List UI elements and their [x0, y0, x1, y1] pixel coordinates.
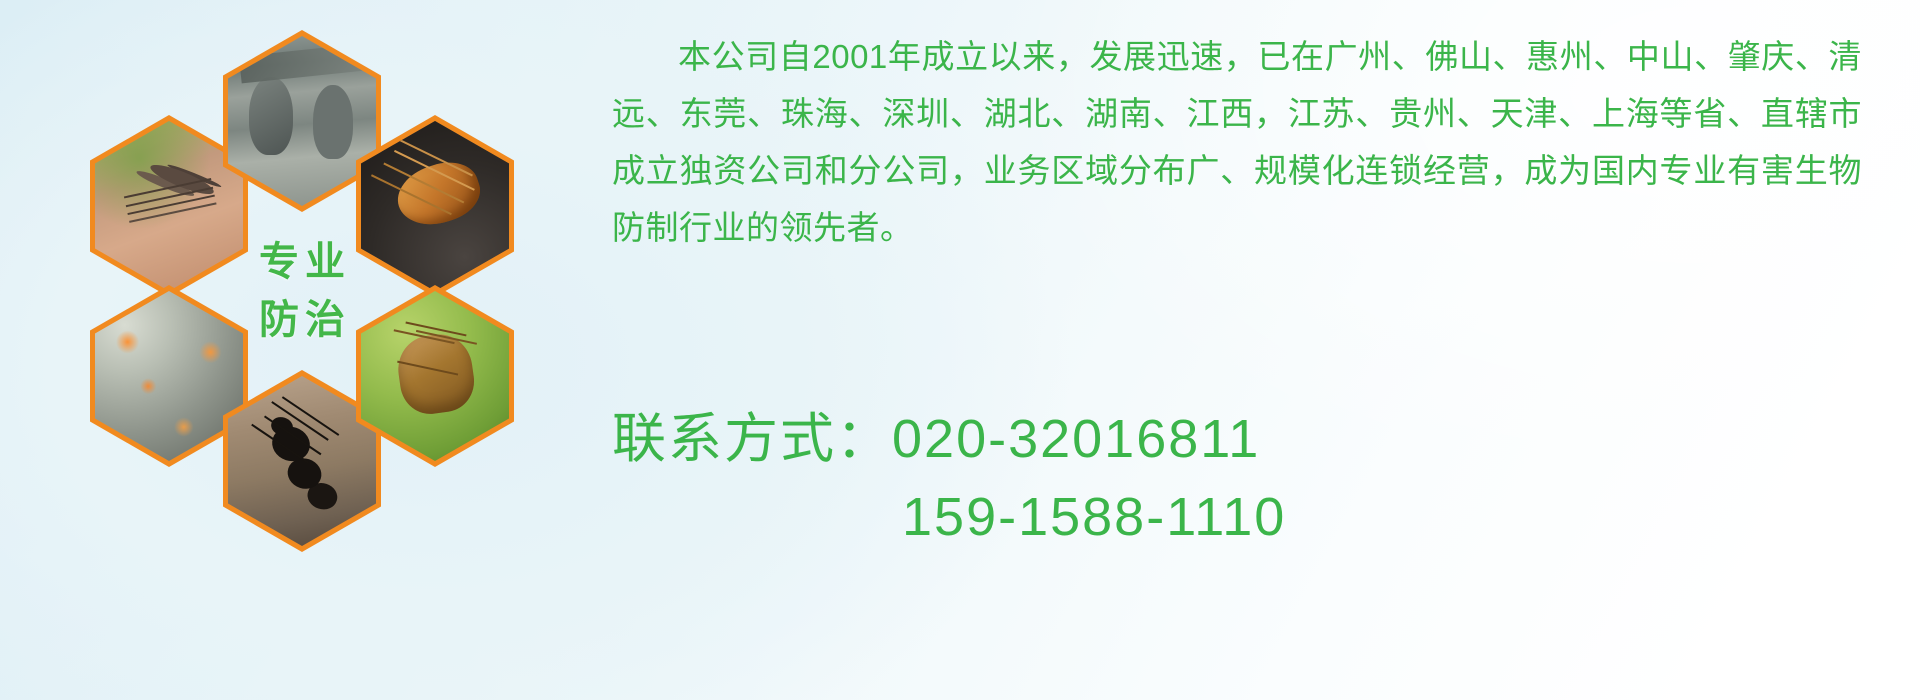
fly-icon — [95, 291, 243, 461]
mosquito-icon — [95, 121, 243, 291]
rat-icon — [228, 36, 376, 206]
contact-primary-line[interactable]: 联系方式：020-32016811 — [612, 400, 1862, 478]
hex-photo-cluster: 专业 防治 — [90, 10, 590, 570]
badge-line-1: 专业 — [253, 233, 351, 291]
contact-block: 联系方式：020-32016811 159-1588-1110 — [612, 400, 1862, 556]
cockroach-icon — [361, 121, 509, 291]
intro-paragraph: 本公司自2001年成立以来，发展迅速，已在广州、佛山、惠州、中山、肇庆、清远、东… — [612, 28, 1862, 256]
contact-secondary-line[interactable]: 159-1588-1110 — [612, 478, 1862, 556]
promo-banner: 专业 防治 本公司自2001年成立以来，发展迅速，已在广州、佛山、惠州、中山、肇… — [0, 0, 1920, 700]
badge-line-2: 防治 — [253, 291, 351, 349]
stinkbug-icon — [361, 291, 509, 461]
badge-professional-control: 专业 防治 — [223, 200, 381, 382]
intro-copy-block: 本公司自2001年成立以来，发展迅速，已在广州、佛山、惠州、中山、肇庆、清远、东… — [612, 28, 1862, 256]
ant-icon — [228, 376, 376, 546]
